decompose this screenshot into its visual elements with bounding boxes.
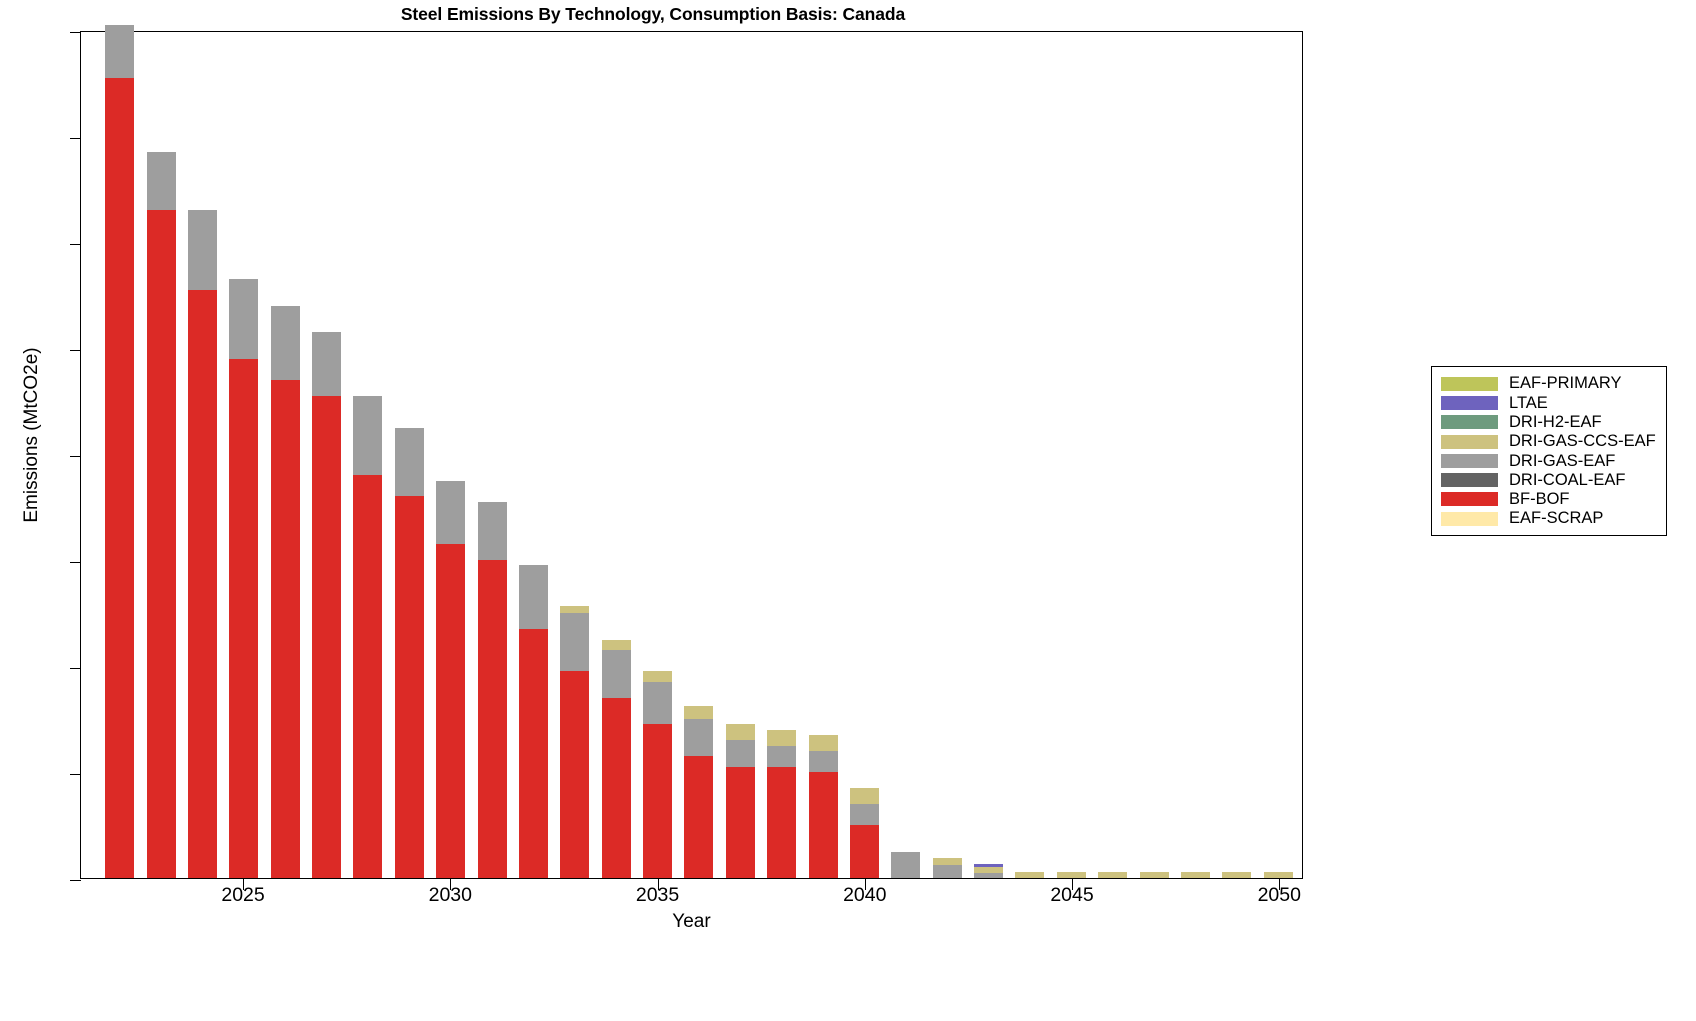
bar-slot xyxy=(1216,32,1257,878)
bar-slot xyxy=(1092,32,1133,878)
bar-slot xyxy=(1009,32,1050,878)
legend-item[interactable]: DRI-GAS-CCS-EAF xyxy=(1441,432,1657,451)
legend-item-label: DRI-H2-EAF xyxy=(1509,414,1602,431)
stacked-bar[interactable] xyxy=(684,706,713,878)
legend-color-swatch xyxy=(1441,473,1498,487)
bar-slot xyxy=(968,32,1009,878)
stacked-bar[interactable] xyxy=(974,864,1003,878)
bar-segment-bf-bof xyxy=(643,724,672,878)
bar-slot xyxy=(430,32,471,878)
chart-figure: Steel Emissions By Technology, Consumpti… xyxy=(0,0,1696,1021)
bar-slot xyxy=(554,32,595,878)
stacked-bar[interactable] xyxy=(1181,872,1210,878)
bar-segment-bf-bof xyxy=(271,380,300,878)
bar-slot xyxy=(637,32,678,878)
bar-segment-dri-gas-eaf xyxy=(809,751,838,772)
x-axis-tick-label: 2040 xyxy=(843,884,886,907)
legend-item-label: DRI-COAL-EAF xyxy=(1509,472,1625,489)
stacked-bar[interactable] xyxy=(436,481,465,878)
stacked-bar[interactable] xyxy=(933,858,962,878)
legend-item-label: BF-BOF xyxy=(1509,491,1570,508)
bar-segment-bf-bof xyxy=(229,359,258,878)
x-axis-tick-label: 2030 xyxy=(429,884,472,907)
bar-segment-bf-bof xyxy=(602,698,631,878)
plot-area: 0.00.00.00.00.00.00.00.00.0 xyxy=(80,31,1303,879)
y-axis-tick-mark xyxy=(70,138,81,139)
stacked-bar[interactable] xyxy=(353,396,382,878)
bars-layer xyxy=(81,32,1302,878)
y-axis-tick-mark xyxy=(70,562,81,563)
bar-segment-bf-bof xyxy=(850,825,879,878)
bar-slot xyxy=(1133,32,1174,878)
stacked-bar[interactable] xyxy=(1222,872,1251,878)
bar-segment-dri-gas-eaf xyxy=(353,396,382,476)
bar-segment-dri-gas-eaf xyxy=(188,210,217,290)
legend-color-swatch xyxy=(1441,512,1498,526)
y-axis-tick-mark xyxy=(70,32,81,33)
stacked-bar[interactable] xyxy=(602,640,631,878)
bar-segment-dri-gas-eaf xyxy=(271,306,300,380)
stacked-bar[interactable] xyxy=(767,730,796,878)
bar-slot xyxy=(844,32,885,878)
bar-segment-dri-gas-ccs-eaf xyxy=(1222,872,1251,878)
stacked-bar[interactable] xyxy=(478,502,507,878)
y-axis-tick-mark xyxy=(70,244,81,245)
bar-segment-dri-gas-eaf xyxy=(147,152,176,210)
y-axis-tick-mark xyxy=(70,668,81,669)
bar-segment-bf-bof xyxy=(478,560,507,878)
stacked-bar[interactable] xyxy=(643,671,672,878)
bar-segment-bf-bof xyxy=(105,78,134,878)
legend-color-swatch xyxy=(1441,415,1498,429)
stacked-bar[interactable] xyxy=(809,735,838,878)
bar-slot xyxy=(471,32,512,878)
y-axis-label: Emissions (MtCO2e) xyxy=(21,35,43,835)
bar-segment-dri-gas-eaf xyxy=(726,740,755,767)
stacked-bar[interactable] xyxy=(229,279,258,878)
legend-color-swatch xyxy=(1441,377,1498,391)
bar-segment-dri-gas-eaf xyxy=(229,279,258,359)
legend-item[interactable]: EAF-SCRAP xyxy=(1441,509,1657,528)
bar-slot xyxy=(265,32,306,878)
bar-slot xyxy=(223,32,264,878)
bar-slot xyxy=(182,32,223,878)
bar-segment-dri-gas-eaf xyxy=(436,481,465,545)
bar-segment-dri-gas-eaf xyxy=(974,873,1003,878)
y-axis-tick-mark xyxy=(70,880,81,881)
bar-segment-dri-gas-ccs-eaf xyxy=(1264,872,1293,878)
bar-segment-dri-gas-ccs-eaf xyxy=(850,788,879,804)
y-axis-tick-mark xyxy=(70,456,81,457)
bar-segment-bf-bof xyxy=(767,767,796,878)
legend-item[interactable]: DRI-COAL-EAF xyxy=(1441,470,1657,489)
bar-segment-dri-gas-eaf xyxy=(891,852,920,879)
stacked-bar[interactable] xyxy=(1098,872,1127,878)
bar-slot xyxy=(99,32,140,878)
stacked-bar[interactable] xyxy=(312,332,341,878)
bar-segment-dri-gas-eaf xyxy=(560,613,589,671)
x-axis-tick-label: 2050 xyxy=(1258,884,1301,907)
legend-item[interactable]: EAF-PRIMARY xyxy=(1441,374,1657,393)
bar-segment-dri-gas-eaf xyxy=(105,25,134,78)
legend-item-label: EAF-SCRAP xyxy=(1509,510,1603,527)
bar-segment-dri-gas-eaf xyxy=(933,865,962,878)
bar-segment-dri-gas-eaf xyxy=(850,804,879,825)
stacked-bar[interactable] xyxy=(1140,872,1169,878)
bar-slot xyxy=(927,32,968,878)
bar-slot xyxy=(140,32,181,878)
bar-segment-bf-bof xyxy=(726,767,755,878)
bar-segment-dri-gas-eaf xyxy=(395,428,424,497)
bar-segment-dri-gas-eaf xyxy=(602,650,631,698)
bar-slot xyxy=(720,32,761,878)
stacked-bar[interactable] xyxy=(395,428,424,878)
bar-segment-bf-bof xyxy=(560,671,589,878)
legend-item[interactable]: LTAE xyxy=(1441,393,1657,412)
stacked-bar[interactable] xyxy=(560,606,589,878)
legend-item-label: LTAE xyxy=(1509,395,1548,412)
bar-segment-dri-gas-ccs-eaf xyxy=(809,735,838,751)
bar-segment-dri-gas-ccs-eaf xyxy=(643,671,672,682)
bar-slot xyxy=(761,32,802,878)
bar-segment-dri-gas-eaf xyxy=(767,746,796,767)
bar-segment-dri-gas-ccs-eaf xyxy=(1057,872,1086,878)
bar-segment-bf-bof xyxy=(436,544,465,878)
stacked-bar[interactable] xyxy=(891,852,920,879)
bar-segment-bf-bof xyxy=(684,756,713,878)
bar-segment-dri-gas-eaf xyxy=(643,682,672,724)
stacked-bar[interactable] xyxy=(105,25,134,878)
bar-slot xyxy=(678,32,719,878)
stacked-bar[interactable] xyxy=(147,152,176,878)
bar-slot xyxy=(306,32,347,878)
bar-segment-dri-gas-eaf xyxy=(478,502,507,560)
bar-segment-dri-gas-ccs-eaf xyxy=(767,730,796,746)
bar-segment-bf-bof xyxy=(519,629,548,878)
x-axis-tick-label: 2045 xyxy=(1050,884,1093,907)
stacked-bar[interactable] xyxy=(1015,872,1044,878)
stacked-bar[interactable] xyxy=(188,210,217,878)
legend-color-swatch xyxy=(1441,492,1498,506)
bar-slot xyxy=(1051,32,1092,878)
stacked-bar[interactable] xyxy=(271,306,300,878)
bar-slot xyxy=(347,32,388,878)
bar-segment-dri-gas-ccs-eaf xyxy=(560,606,589,613)
legend-item[interactable]: DRI-GAS-EAF xyxy=(1441,451,1657,470)
bar-segment-bf-bof xyxy=(395,496,424,878)
legend-item-label: EAF-PRIMARY xyxy=(1509,375,1621,392)
bar-segment-bf-bof xyxy=(809,772,838,878)
y-axis-tick-mark xyxy=(70,774,81,775)
legend-item[interactable]: DRI-H2-EAF xyxy=(1441,413,1657,432)
legend-item-label: DRI-GAS-CCS-EAF xyxy=(1509,433,1656,450)
bar-segment-dri-gas-eaf xyxy=(519,565,548,629)
legend-color-swatch xyxy=(1441,396,1498,410)
bar-segment-bf-bof xyxy=(188,290,217,878)
bar-segment-dri-gas-ccs-eaf xyxy=(726,724,755,740)
bar-slot xyxy=(513,32,554,878)
bar-segment-dri-gas-ccs-eaf xyxy=(1098,872,1127,878)
legend-color-swatch xyxy=(1441,454,1498,468)
bar-slot xyxy=(802,32,843,878)
bar-segment-dri-gas-eaf xyxy=(312,332,341,396)
x-axis-tick-label: 2035 xyxy=(636,884,679,907)
bar-slot xyxy=(885,32,926,878)
x-axis-label: Year xyxy=(80,911,1303,933)
stacked-bar[interactable] xyxy=(519,565,548,878)
x-axis-tick-label: 2025 xyxy=(221,884,264,907)
stacked-bar[interactable] xyxy=(850,788,879,878)
legend-item-label: DRI-GAS-EAF xyxy=(1509,453,1615,470)
bar-segment-dri-gas-ccs-eaf xyxy=(1140,872,1169,878)
bar-segment-dri-gas-ccs-eaf xyxy=(1181,872,1210,878)
stacked-bar[interactable] xyxy=(1057,872,1086,878)
bar-segment-bf-bof xyxy=(353,475,382,878)
y-axis-tick-mark xyxy=(70,350,81,351)
chart-title: Steel Emissions By Technology, Consumpti… xyxy=(0,4,1306,25)
bar-slot xyxy=(1175,32,1216,878)
bar-segment-bf-bof xyxy=(147,210,176,878)
stacked-bar[interactable] xyxy=(726,724,755,878)
bar-segment-dri-gas-ccs-eaf xyxy=(1015,872,1044,878)
bar-segment-bf-bof xyxy=(312,396,341,878)
bar-segment-dri-gas-eaf xyxy=(684,719,713,756)
bar-segment-dri-gas-ccs-eaf xyxy=(602,640,631,651)
chart-legend: EAF-PRIMARYLTAEDRI-H2-EAFDRI-GAS-CCS-EAF… xyxy=(1431,366,1667,536)
legend-item[interactable]: BF-BOF xyxy=(1441,490,1657,509)
bar-slot xyxy=(389,32,430,878)
bar-slot xyxy=(596,32,637,878)
legend-color-swatch xyxy=(1441,435,1498,449)
bar-slot xyxy=(1258,32,1299,878)
stacked-bar[interactable] xyxy=(1264,872,1293,878)
bar-segment-dri-gas-ccs-eaf xyxy=(684,706,713,719)
